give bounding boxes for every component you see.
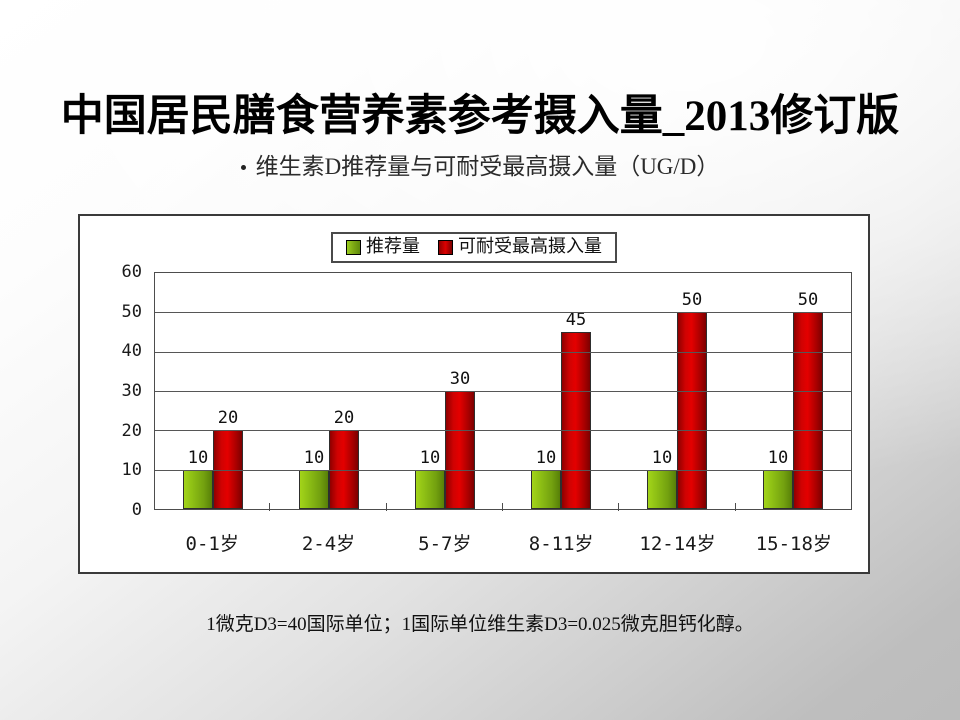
bar-value-label: 10 [304, 448, 324, 468]
y-axis-tick-label: 10 [122, 460, 142, 480]
x-axis-tick-label: 12-14岁 [619, 511, 735, 555]
bar-value-label: 10 [652, 448, 672, 468]
bar-value-label: 20 [334, 408, 354, 428]
chart-container: 推荐量 可耐受最高摄入量 6050403020100 1020102010301… [78, 214, 870, 574]
bar-value-label: 50 [798, 290, 818, 310]
gridline [155, 430, 851, 431]
x-axis-tick-mark [269, 503, 270, 511]
gridline [155, 352, 851, 353]
x-axis: 0-1岁2-4岁5-7岁8-11岁12-14岁15-18岁 [154, 511, 852, 555]
bar-upper-limit: 50 [793, 312, 823, 509]
slide-canvas: 中国居民膳食营养素参考摄入量_2013修订版 维生素D推荐量与可耐受最高摄入量（… [0, 0, 960, 720]
bar-value-label: 10 [188, 448, 208, 468]
x-axis-tick-mark [502, 503, 503, 511]
bar-upper-limit: 30 [445, 391, 475, 509]
bar-upper-limit: 50 [677, 312, 707, 509]
gridline [155, 470, 851, 471]
y-axis-tick-label: 50 [122, 302, 142, 322]
bar-value-label: 20 [218, 408, 238, 428]
bar-recommended: 10 [647, 470, 677, 509]
subtitle-row: 维生素D推荐量与可耐受最高摄入量（UG/D） [60, 152, 900, 182]
bar-value-label: 50 [682, 290, 702, 310]
y-axis-tick-label: 40 [122, 341, 142, 361]
bar-recommended: 10 [183, 470, 213, 509]
y-axis-tick-label: 30 [122, 381, 142, 401]
bar-value-label: 10 [536, 448, 556, 468]
bar-recommended: 10 [531, 470, 561, 509]
legend-swatch-green-icon [346, 240, 361, 255]
x-axis-tick-label: 15-18岁 [736, 511, 852, 555]
y-axis: 6050403020100 [102, 272, 148, 510]
x-axis-tick-label: 8-11岁 [503, 511, 619, 555]
y-axis-tick-label: 60 [122, 262, 142, 282]
x-axis-tick-mark [618, 503, 619, 511]
bar-recommended: 10 [415, 470, 445, 509]
legend-item-upper-limit: 可耐受最高摄入量 [438, 237, 602, 257]
bullet-point-icon [241, 165, 246, 170]
bar-value-label: 30 [450, 369, 470, 389]
bar-value-label: 10 [768, 448, 788, 468]
title-block: 中国居民膳食营养素参考摄入量_2013修订版 [60, 92, 900, 142]
legend-label-upper-limit: 可耐受最高摄入量 [458, 237, 602, 257]
gridline [155, 312, 851, 313]
legend-swatch-red-icon [438, 240, 453, 255]
footnote-text: 1微克D3=40国际单位；1国际单位维生素D3=0.025微克胆钙化醇。 [0, 612, 960, 638]
x-axis-tick-mark [735, 503, 736, 511]
chart-legend: 推荐量 可耐受最高摄入量 [331, 232, 617, 263]
plot-area: 102010201030104510501050 [154, 272, 852, 510]
x-axis-tick-label: 5-7岁 [387, 511, 503, 555]
bar-recommended: 10 [763, 470, 793, 509]
gridline [155, 391, 851, 392]
bar-upper-limit: 45 [561, 332, 591, 509]
legend-item-recommended: 推荐量 [346, 237, 420, 257]
plot-wrapper: 6050403020100 102010201030104510501050 0… [102, 272, 852, 562]
x-axis-tick-label: 0-1岁 [154, 511, 270, 555]
page-title: 中国居民膳食营养素参考摄入量_2013修订版 [60, 92, 900, 142]
x-axis-tick-mark [386, 503, 387, 511]
y-axis-tick-label: 20 [122, 421, 142, 441]
bar-value-label: 10 [420, 448, 440, 468]
legend-label-recommended: 推荐量 [366, 237, 420, 257]
subtitle-text: 维生素D推荐量与可耐受最高摄入量（UG/D） [256, 152, 720, 182]
x-axis-tick-label: 2-4岁 [270, 511, 386, 555]
y-axis-tick-label: 0 [132, 500, 142, 520]
bar-recommended: 10 [299, 470, 329, 509]
